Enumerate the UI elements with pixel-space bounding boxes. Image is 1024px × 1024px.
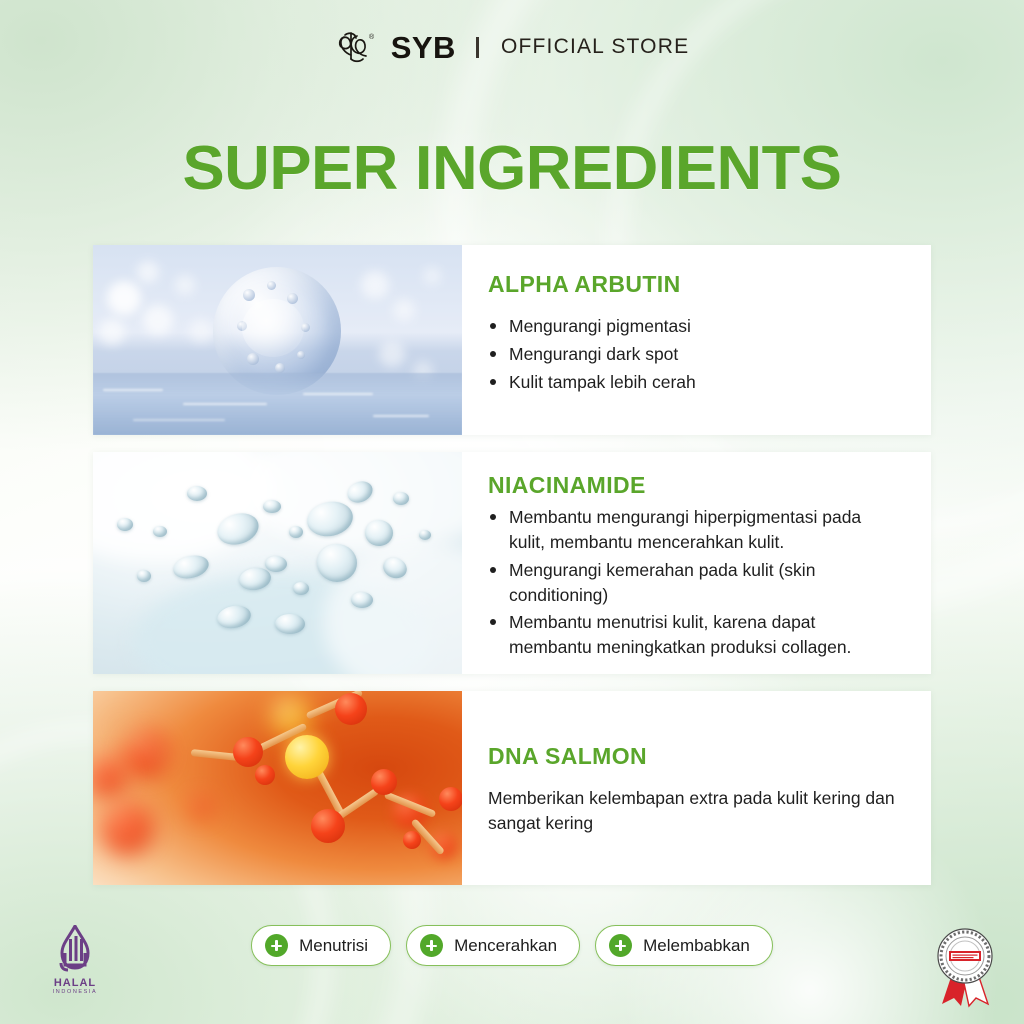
page-title: SUPER INGREDIENTS	[0, 133, 1024, 204]
ingredient-title: ALPHA ARBUTIN	[488, 271, 901, 298]
ingredient-detail: DNA SALMON Memberikan kelembapan extra p…	[462, 691, 931, 885]
niacinamide-gel-droplets-photo	[93, 452, 462, 674]
ingredient-card: ALPHA ARBUTIN Mengurangi pigmentasi Meng…	[93, 245, 931, 435]
ingredient-detail: ALPHA ARBUTIN Mengurangi pigmentasi Meng…	[462, 245, 931, 435]
brand-header: ® SYB OFFICIAL STORE	[0, 27, 1024, 67]
list-item: Mengurangi pigmentasi	[488, 314, 901, 339]
svg-text:®: ®	[369, 33, 375, 41]
benefit-pill-mencerahkan[interactable]: Mencerahkan	[406, 925, 580, 966]
benefit-pill-melembabkan[interactable]: Melembabkan	[595, 925, 773, 966]
ingredient-title: NIACINAMIDE	[488, 472, 901, 499]
halal-title: HALAL	[33, 977, 117, 989]
ingredient-detail: NIACINAMIDE Membantu mengurangi hiperpig…	[462, 452, 931, 674]
halal-subtitle: INDONESIA	[33, 989, 117, 995]
alpha-arbutin-bubble-photo	[93, 245, 462, 435]
list-item: Mengurangi kemerahan pada kulit (skin co…	[488, 558, 901, 608]
award-rosette-icon	[928, 922, 1002, 1008]
ingredient-card-list: ALPHA ARBUTIN Mengurangi pigmentasi Meng…	[93, 245, 931, 902]
ingredient-card: NIACINAMIDE Membantu mengurangi hiperpig…	[93, 452, 931, 674]
infographic-canvas: ® SYB OFFICIAL STORE SUPER INGREDIENTS	[0, 0, 1024, 1024]
benefit-pill-row: Menutrisi Mencerahkan Melembabkan	[0, 925, 1024, 966]
plus-circle-icon	[609, 934, 632, 957]
ingredient-description: Memberikan kelembapan extra pada kulit k…	[488, 786, 901, 836]
halal-certification-badge: HALAL INDONESIA	[33, 925, 117, 995]
benefit-pill-label: Mencerahkan	[454, 936, 557, 956]
plus-circle-icon	[420, 934, 443, 957]
list-item: Kulit tampak lebih cerah	[488, 370, 901, 395]
list-item: Membantu menutrisi kulit, karena dapat m…	[488, 610, 901, 660]
official-store-label: OFFICIAL STORE	[501, 35, 689, 59]
syb-monogram-icon: ®	[335, 27, 379, 67]
brand-name: SYB	[391, 32, 456, 63]
ingredient-benefit-list: Membantu mengurangi hiperpigmentasi pada…	[488, 505, 901, 660]
ingredient-benefit-list: Mengurangi pigmentasi Mengurangi dark sp…	[488, 314, 901, 395]
list-item: Mengurangi dark spot	[488, 342, 901, 367]
benefit-pill-label: Menutrisi	[299, 936, 368, 956]
halal-indonesia-logo-icon	[52, 925, 98, 975]
header-divider	[476, 37, 479, 58]
benefit-pill-menutrisi[interactable]: Menutrisi	[251, 925, 391, 966]
list-item: Membantu mengurangi hiperpigmentasi pada…	[488, 505, 901, 555]
benefit-pill-label: Melembabkan	[643, 936, 750, 956]
plus-circle-icon	[265, 934, 288, 957]
ingredient-title: DNA SALMON	[488, 743, 901, 770]
dna-salmon-molecule-photo	[93, 691, 462, 885]
ingredient-card: DNA SALMON Memberikan kelembapan extra p…	[93, 691, 931, 885]
